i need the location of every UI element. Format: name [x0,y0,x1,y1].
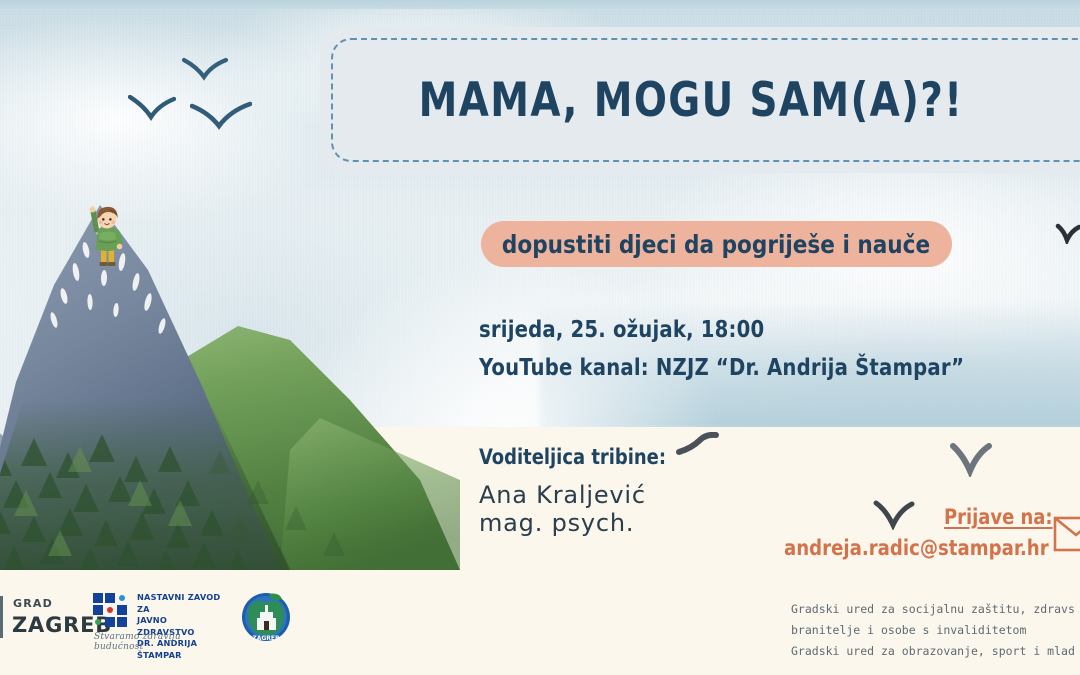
logo-institute-mark [92,592,132,630]
boy-on-mountain-illustration [84,197,128,277]
organizer-credits: Gradski ured za socijalnu zaštitu, zdrav… [791,599,1080,662]
event-details: srijeda, 25. ožujak, 18:00 YouTube kanal… [479,311,1039,387]
title-card: MAMA, MOGU SAM(A)?! [320,27,1080,173]
subtitle-text: dopustiti djeci da pogriješe i nauče [502,230,930,259]
signup-email[interactable]: andreja.radic@stampar.hr [784,536,1049,560]
subtitle-pill: dopustiti djeci da pogriješe i nauče [481,221,952,267]
bird-icon [950,443,992,477]
host-block: Ana Kraljević mag. psych. [479,481,646,537]
bird-icon [182,57,228,81]
logo-city-line1: GRAD [13,597,53,610]
event-channel: YouTube kanal: NZJZ “Dr. Andrija Štampar… [479,349,1011,387]
signup-label: Prijave na: [944,505,1053,529]
bird-icon [190,100,252,130]
logo-institute-line1: NASTAVNI ZAVOD ZA [137,592,222,615]
credit-line: Gradski ured za socijalnu zaštitu, zdrav… [791,599,1080,620]
logo-institute-tagline: Stvaramo zdraviju budućnost [94,632,222,652]
bird-icon [128,95,176,121]
event-datetime: srijeda, 25. ožujak, 18:00 [479,311,1011,349]
host-label: Voditeljica tribine: [479,445,666,469]
page-title: MAMA, MOGU SAM(A)?! [350,27,1033,173]
logo-divider-bar [0,596,3,638]
credit-line: Gradski ured za obrazovanje, sport i mla… [791,641,1080,662]
bird-icon [1055,222,1080,244]
logo-city-of-zagreb: GRAD ZAGREB [0,594,86,642]
credit-line: branitelje i osobe s invaliditetom [791,620,1080,641]
top-edge-strip [0,0,1080,9]
envelope-icon [1053,516,1080,552]
poster-canvas: MAMA, MOGU SAM(A)?! dopustiti djeci da p… [0,0,1080,675]
host-credentials: mag. psych. [479,509,646,537]
logo-institute-stampar: NASTAVNI ZAVOD ZA JAVNO ZDRAVSTVO DR. AN… [92,590,222,645]
watercolor-mountains-illustration [0,150,460,580]
bird-icon [676,432,730,460]
logo-zagreb-apple-seal: ZAGREB [238,588,294,646]
host-name: Ana Kraljević [479,481,646,509]
bird-icon [873,500,915,530]
logo-seal-label: ZAGREB [252,635,280,642]
